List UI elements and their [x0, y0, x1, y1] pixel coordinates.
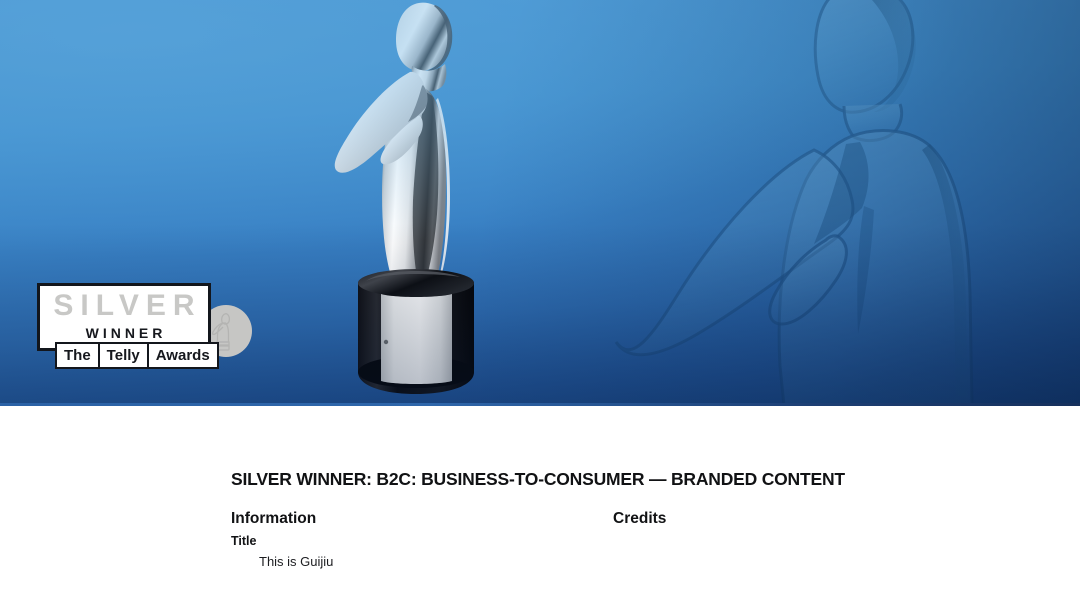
wordmark-awards: Awards [149, 344, 217, 367]
wordmark-telly: Telly [100, 344, 149, 367]
field-value-title: This is Guijiu [259, 554, 333, 569]
ghost-statuette-backdrop [600, 0, 1080, 406]
award-category-title: SILVER WINNER: B2C: BUSINESS-TO-CONSUMER… [231, 469, 845, 490]
award-details-section: SILVER WINNER: B2C: BUSINESS-TO-CONSUMER… [0, 406, 1080, 596]
hero-banner: SILVER WINNER The Telly Awards [0, 0, 1080, 406]
telly-statuette [330, 0, 495, 406]
badge-box: SILVER WINNER [37, 283, 211, 351]
information-heading: Information [231, 510, 316, 528]
telly-awards-wordmark: The Telly Awards [55, 342, 219, 369]
silver-winner-badge: SILVER WINNER The Telly Awards [37, 283, 252, 379]
badge-winner-label: WINNER [40, 325, 208, 341]
credits-heading: Credits [613, 510, 666, 528]
badge-award-level: SILVER [40, 290, 208, 322]
field-label-title: Title [231, 534, 256, 548]
wordmark-the: The [57, 344, 100, 367]
